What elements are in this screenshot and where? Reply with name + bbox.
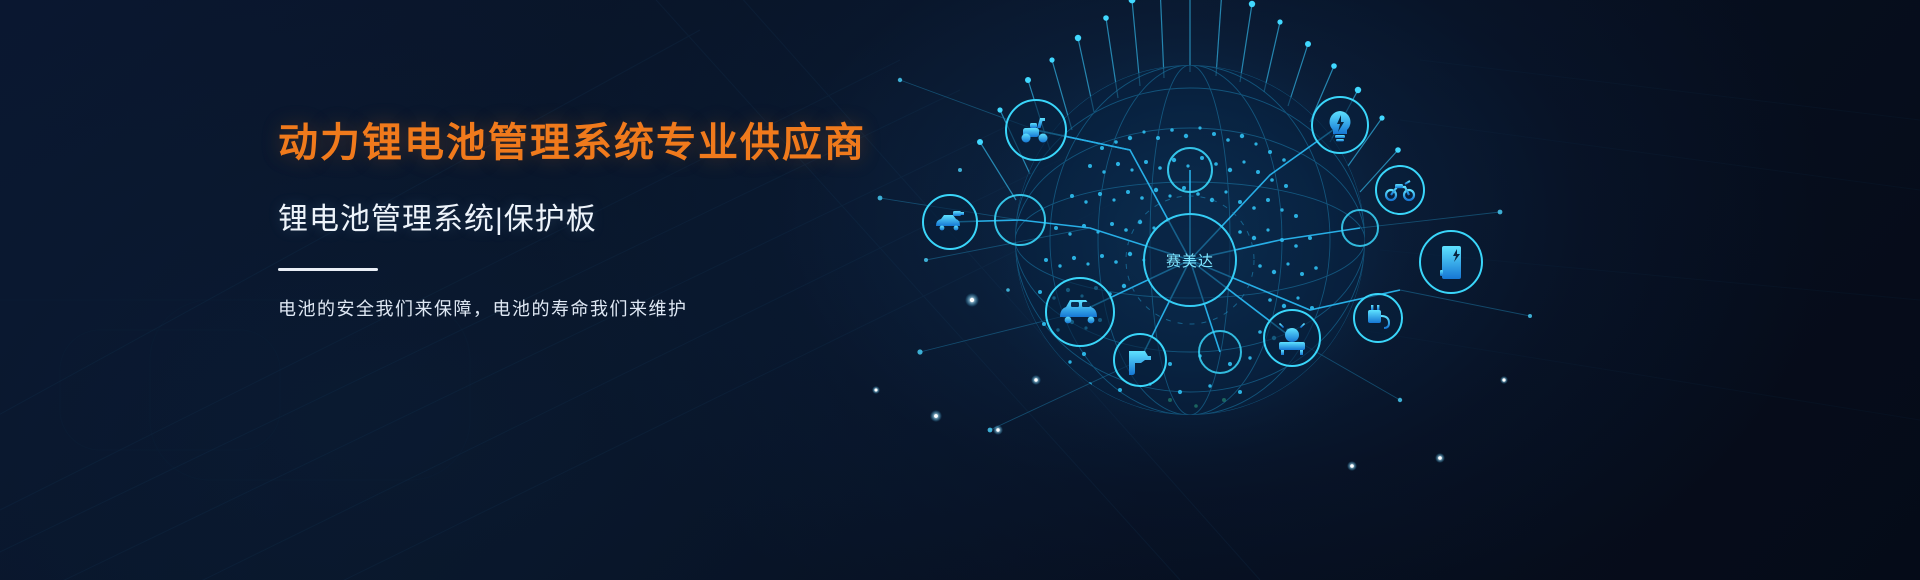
network-globe-graphic: 赛美达	[840, 0, 1540, 580]
banner-tagline: 电池的安全我们来保障，电池的寿命我们来维护	[278, 295, 898, 321]
hero-banner: 动力锂电池管理系统专业供应商 锂电池管理系统|保护板 电池的安全我们来保障，电池…	[0, 0, 1920, 580]
title-divider	[278, 268, 378, 271]
empty-node-right[interactable]	[1342, 210, 1378, 246]
car-icon[interactable]	[1046, 278, 1114, 346]
lightbulb-icon[interactable]	[1312, 97, 1368, 153]
banner-text-block: 动力锂电池管理系统专业供应商 锂电池管理系统|保护板 电池的安全我们来保障，电池…	[278, 118, 898, 321]
banner-headline: 动力锂电池管理系统专业供应商	[278, 118, 898, 168]
empty-node-top[interactable]	[1168, 148, 1212, 192]
hub-label: 赛美达	[1166, 253, 1214, 270]
hub-node[interactable]: 赛美达	[1126, 196, 1254, 324]
globe-glow	[960, 10, 1420, 470]
light-beams	[977, 0, 1401, 200]
empty-node-left[interactable]	[995, 195, 1045, 245]
electric-car-plug-icon[interactable]	[923, 195, 977, 249]
sparkle-dots	[872, 293, 1508, 471]
scooter-icon[interactable]	[1006, 100, 1066, 160]
power-drill-icon[interactable]	[1114, 334, 1166, 386]
motorcycle-icon[interactable]	[1376, 166, 1424, 214]
connection-lines	[950, 125, 1400, 360]
filament-dots	[878, 78, 1532, 433]
charger-plug-icon[interactable]	[1354, 294, 1402, 342]
empty-node-bottom[interactable]	[1199, 331, 1241, 373]
phone-battery-icon[interactable]	[1420, 231, 1482, 293]
desk-lamp-icon[interactable]	[1264, 310, 1320, 366]
filament-lines	[880, 80, 1530, 430]
globe-sphere	[1015, 65, 1365, 415]
banner-subheadline: 锂电池管理系统|保护板	[278, 194, 898, 238]
